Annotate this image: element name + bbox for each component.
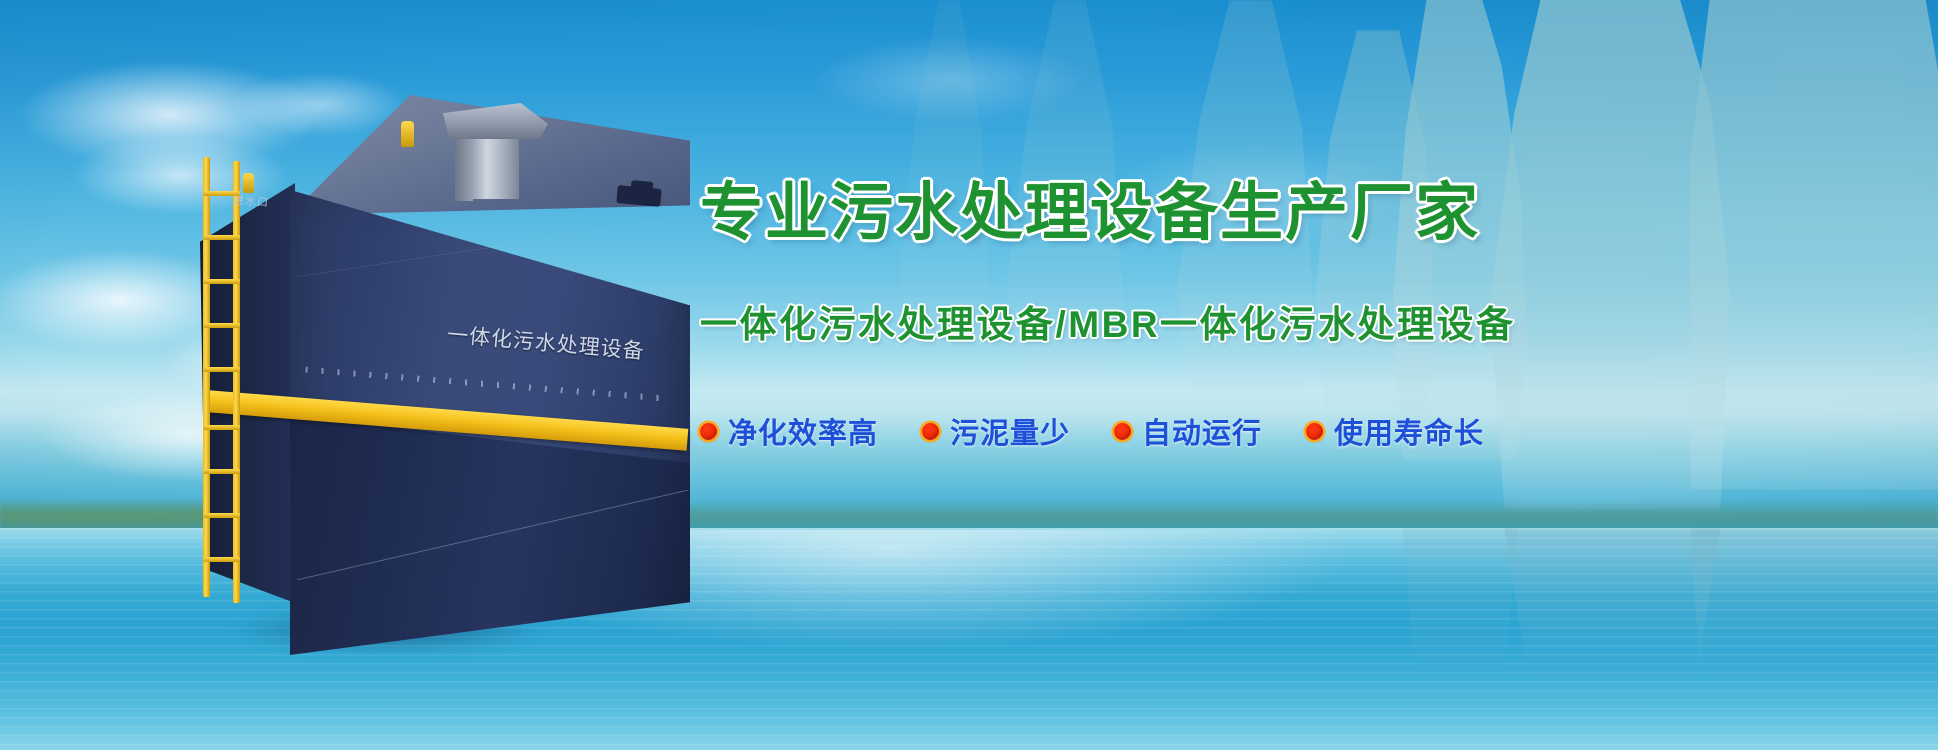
feature-list: 净化效率高 污泥量少 自动运行 使用寿命长 bbox=[700, 410, 1820, 452]
feature-item-1: 净化效率高 bbox=[700, 410, 878, 452]
ladder-rung bbox=[203, 367, 240, 372]
feature-label: 净化效率高 bbox=[728, 410, 878, 452]
wastewater-treatment-tank: 进水口 一体化污水处理设备 bbox=[185, 95, 705, 625]
ladder-rung bbox=[203, 557, 240, 562]
tank-inlet-label: 进水口 bbox=[232, 192, 269, 210]
banner-headline: 专业污水处理设备生产厂家 bbox=[700, 180, 1820, 246]
vent-stack-pipe bbox=[473, 131, 519, 199]
feature-label: 自动运行 bbox=[1142, 410, 1262, 452]
ladder-rail-left bbox=[203, 157, 210, 597]
bullet-dot-icon bbox=[700, 423, 717, 440]
tank-lower-seam-line bbox=[297, 490, 689, 580]
lifting-lug-2 bbox=[243, 173, 254, 193]
feature-label: 污泥量少 bbox=[950, 410, 1070, 452]
ladder-rung bbox=[203, 425, 240, 430]
banner-subheadline: 一体化污水处理设备/MBR一体化污水处理设备 bbox=[700, 294, 1820, 348]
tank-fitting-2 bbox=[631, 180, 654, 194]
feature-item-4: 使用寿命长 bbox=[1306, 410, 1484, 452]
lifting-lug-1 bbox=[401, 121, 414, 147]
ladder-rung bbox=[203, 513, 240, 518]
feature-item-3: 自动运行 bbox=[1114, 410, 1262, 452]
feature-label: 使用寿命长 bbox=[1334, 410, 1484, 452]
feature-item-2: 污泥量少 bbox=[922, 410, 1070, 452]
ladder-rail-right bbox=[233, 161, 240, 603]
bullet-dot-icon bbox=[922, 423, 939, 440]
tank-upper-seam-line bbox=[295, 217, 691, 277]
marketing-copy-block: 专业污水处理设备生产厂家 一体化污水处理设备/MBR一体化污水处理设备 净化效率… bbox=[700, 180, 1820, 452]
ladder-rung bbox=[203, 323, 240, 328]
product-hero-banner: 进水口 一体化污水处理设备 专业污水处理设备生产厂家 一体化污水处理设备/MBR… bbox=[0, 0, 1938, 750]
ladder-rung bbox=[203, 235, 240, 240]
ladder-rung bbox=[203, 279, 240, 284]
bullet-dot-icon bbox=[1114, 423, 1131, 440]
ladder-rung bbox=[203, 469, 240, 474]
bullet-dot-icon bbox=[1306, 423, 1323, 440]
